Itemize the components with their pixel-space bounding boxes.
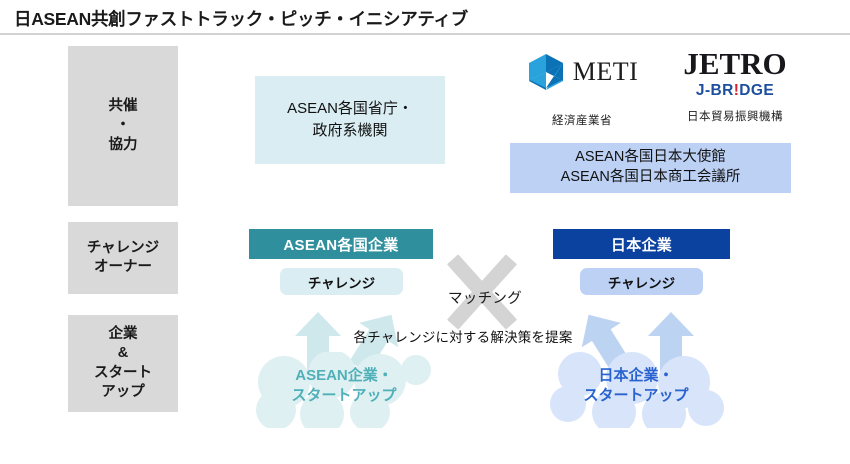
jetro-logo-block: JETRO J-BR!DGE 日本貿易振興機構	[660, 48, 810, 124]
japan-startup-cluster: 日本企業・ スタートアップ	[540, 352, 732, 428]
meti-wordmark: METI	[573, 57, 639, 87]
jbridge-wordmark: J-BR!DGE	[660, 83, 810, 99]
role-startup-line-2: &	[118, 344, 128, 363]
page-title: 日ASEAN共創ファストトラック・ピッチ・イニシアティブ	[14, 6, 468, 31]
role-cohost-line-3: 協力	[109, 136, 138, 155]
japan-startup-line-2: スタートアップ	[583, 387, 688, 404]
jetro-wordmark: JETRO	[660, 48, 810, 79]
embassy-line-1: ASEAN各国日本大使館	[575, 148, 726, 168]
role-startup-line-1: 企業	[109, 325, 138, 344]
matching-label: マッチング	[430, 287, 540, 308]
embassy-chamber-box: ASEAN各国日本大使館 ASEAN各国日本商工会議所	[510, 143, 791, 193]
role-cohost-line-2: ・	[116, 116, 131, 135]
role-cohost-line-1: 共催	[109, 97, 138, 116]
japan-company-header: 日本企業	[553, 229, 730, 259]
asean-challenge-pill: チャレンジ	[280, 268, 403, 295]
role-startup-line-4: アップ	[101, 383, 145, 402]
asean-government-box: ASEAN各国省庁・ 政府系機関	[255, 76, 445, 164]
japan-challenge-pill: チャレンジ	[580, 268, 703, 295]
role-startup-line-3: スタート	[94, 364, 152, 383]
jbridge-suffix: DGE	[739, 82, 774, 99]
role-box-company-startup: 企業 & スタート アップ	[68, 315, 178, 412]
role-box-cohost: 共催 ・ 協力	[68, 46, 178, 206]
role-owner-line-2: オーナー	[94, 258, 152, 277]
asean-startup-line-2: スタートアップ	[291, 387, 396, 404]
meti-caption: 経済産業省	[512, 112, 652, 128]
jetro-caption: 日本貿易振興機構	[660, 108, 810, 124]
asean-government-line-2: 政府系機関	[312, 120, 387, 142]
meti-hexagon-logo-icon	[526, 52, 566, 92]
slide-canvas: 日ASEAN共創ファストトラック・ピッチ・イニシアティブ 共催 ・ 協力 チャレ…	[0, 0, 850, 464]
title-divider	[0, 33, 850, 35]
japan-startup-label: 日本企業・ スタートアップ	[540, 366, 732, 407]
role-box-challenge-owner: チャレンジ オーナー	[68, 222, 178, 294]
role-owner-line-1: チャレンジ	[87, 239, 159, 258]
asean-government-line-1: ASEAN各国省庁・	[287, 98, 413, 120]
japan-startup-line-1: 日本企業・	[598, 367, 673, 384]
jbridge-prefix: J-BR	[696, 82, 734, 99]
asean-startup-line-1: ASEAN企業・	[295, 367, 393, 384]
asean-company-header: ASEAN各国企業	[249, 229, 433, 259]
proposal-text: 各チャレンジに対する解決策を提案	[338, 326, 588, 346]
meti-logo-block: METI 経済産業省	[512, 50, 652, 128]
asean-startup-cluster: ASEAN企業・ スタートアップ	[248, 352, 440, 428]
asean-startup-label: ASEAN企業・ スタートアップ	[248, 366, 440, 407]
embassy-line-2: ASEAN各国日本商工会議所	[561, 168, 741, 188]
